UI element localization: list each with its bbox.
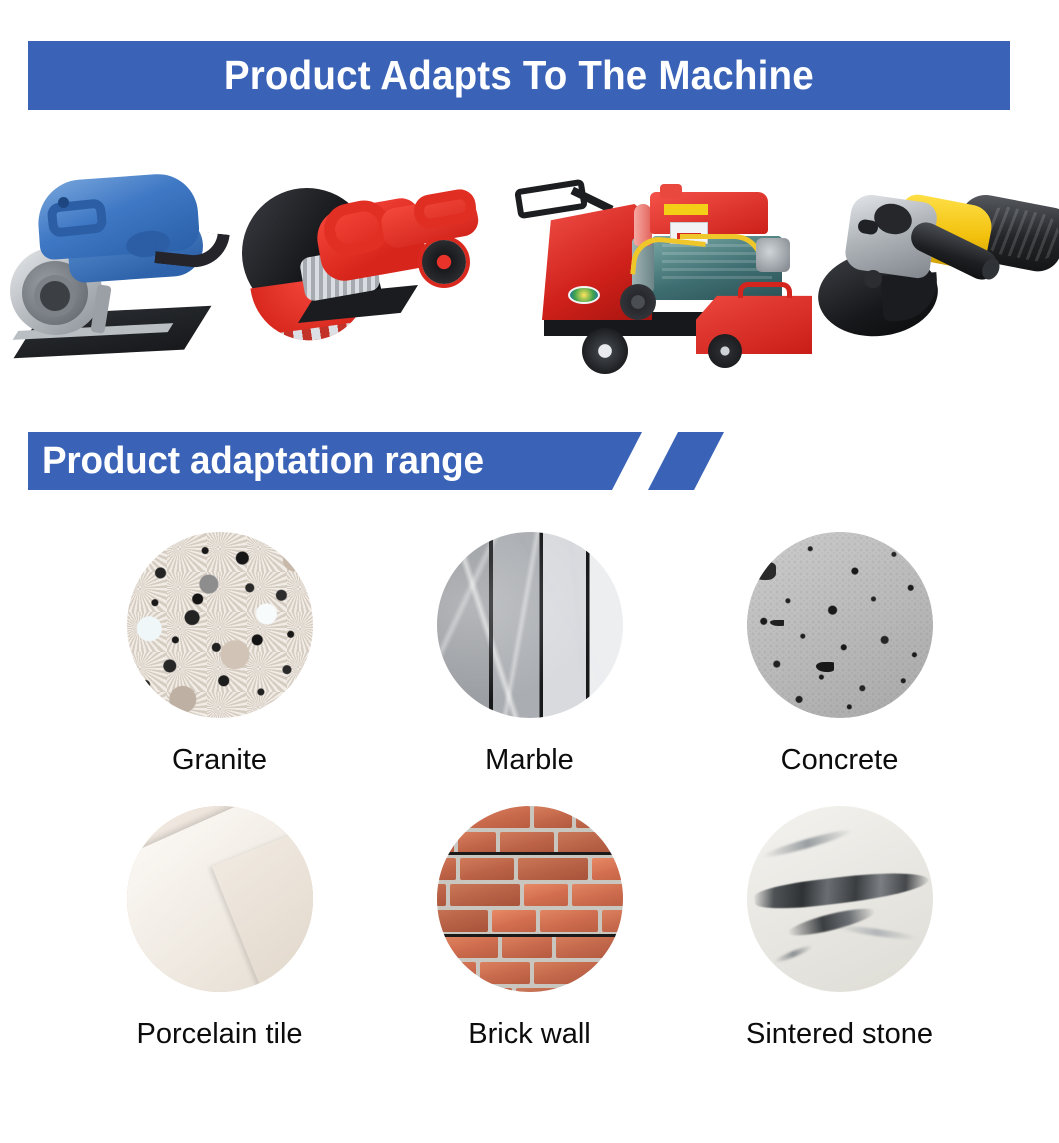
brick [450, 884, 520, 906]
brick [437, 858, 456, 880]
machine-image-blue-marble-cutter [8, 165, 248, 375]
machine-image-red-cut-off-saw [232, 178, 482, 363]
product-adaptation-page: Product Adapts To The Machine [0, 0, 1059, 1143]
brick [604, 962, 623, 984]
brick [534, 962, 600, 984]
brick [556, 936, 622, 958]
header-banner: Product Adapts To The Machine [28, 41, 1010, 110]
machine-image-angle-grinder [822, 178, 1059, 358]
porcelain-tile-swatch-image [127, 806, 313, 992]
concrete-swatch-image [747, 532, 933, 718]
material-label: Porcelain tile [136, 1018, 302, 1051]
blade-hub [40, 281, 70, 311]
brick-row [437, 858, 623, 880]
page-title: Product Adapts To The Machine [224, 52, 814, 99]
brick-course-shadow-line [437, 852, 623, 855]
brick [460, 858, 514, 880]
material-label: Granite [172, 744, 267, 777]
brick-row [437, 806, 623, 828]
brick [540, 910, 598, 932]
brick [576, 806, 623, 828]
material-item-brick-wall[interactable]: Brick wall [434, 806, 626, 1078]
brick [437, 988, 442, 992]
brick [446, 988, 512, 992]
brick [572, 884, 623, 906]
material-label: Sintered stone [746, 1018, 933, 1051]
brick [500, 832, 554, 854]
rear-wheel [582, 328, 628, 374]
blade-guard-handle [738, 282, 792, 298]
brick-course-shadow-line [437, 934, 623, 937]
front-wheel [708, 334, 742, 368]
material-label: Brick wall [468, 1018, 590, 1051]
brick-row [437, 832, 623, 854]
section-banner: Product adaptation range [28, 432, 728, 490]
brick [518, 858, 588, 880]
material-row: Porcelain tile Brick wall Sintered stone [0, 806, 1059, 1078]
material-row: Granite Marble Concrete [0, 532, 1059, 804]
warning-label [664, 204, 708, 215]
brick-row [437, 884, 623, 906]
brick-row [437, 988, 623, 992]
stone-vein-primary [753, 866, 930, 913]
brick [437, 806, 464, 828]
stone-vein-secondary [787, 903, 877, 940]
brick [534, 806, 572, 828]
material-item-porcelain-tile[interactable]: Porcelain tile [124, 806, 316, 1078]
material-item-granite[interactable]: Granite [124, 532, 316, 804]
machine-image-road-cutter [512, 160, 812, 375]
marble-swatch-image [437, 532, 623, 718]
material-grid: Granite Marble Concrete Porcelain [0, 520, 1059, 1120]
sintered-stone-swatch-image [747, 806, 933, 992]
brick-row [437, 936, 623, 958]
brick [437, 884, 446, 906]
power-button [58, 197, 69, 208]
guide-wheel [422, 240, 466, 284]
section-banner-accent-stripe [648, 432, 724, 490]
top-grip-handle [46, 198, 107, 238]
section-title: Product adaptation range [42, 432, 484, 490]
material-label: Marble [485, 744, 574, 777]
granite-swatch-image [127, 532, 313, 718]
fuel-cap [660, 184, 682, 198]
disc-safety-guard [880, 272, 939, 322]
brick-wall-swatch-image [437, 806, 623, 992]
brick-row [437, 962, 623, 984]
power-cord [154, 227, 229, 270]
brick [558, 832, 623, 854]
brick [437, 832, 454, 854]
push-handle-bar [514, 179, 588, 220]
brick [524, 884, 568, 906]
stone-vein-lower [836, 923, 918, 941]
brick [502, 936, 552, 958]
brick [468, 806, 530, 828]
brick [440, 936, 498, 958]
brick [566, 988, 623, 992]
brick-row [437, 910, 623, 932]
brick [437, 910, 488, 932]
material-item-sintered-stone[interactable]: Sintered stone [744, 806, 936, 1078]
drive-pulley [620, 284, 656, 320]
brand-sticker [568, 286, 600, 304]
brick [492, 910, 536, 932]
brick [480, 962, 530, 984]
material-label: Concrete [781, 744, 899, 777]
brick [592, 858, 623, 880]
brick [437, 962, 476, 984]
generator-unit [756, 238, 790, 272]
brick [516, 988, 562, 992]
material-item-concrete[interactable]: Concrete [744, 532, 936, 804]
brick [602, 910, 623, 932]
spindle-nut [864, 270, 882, 288]
stone-vein-bottom [773, 944, 813, 965]
machine-gallery [0, 150, 1059, 395]
material-item-marble[interactable]: Marble [434, 532, 626, 804]
brick [458, 832, 496, 854]
stone-vein-upper [762, 827, 854, 861]
